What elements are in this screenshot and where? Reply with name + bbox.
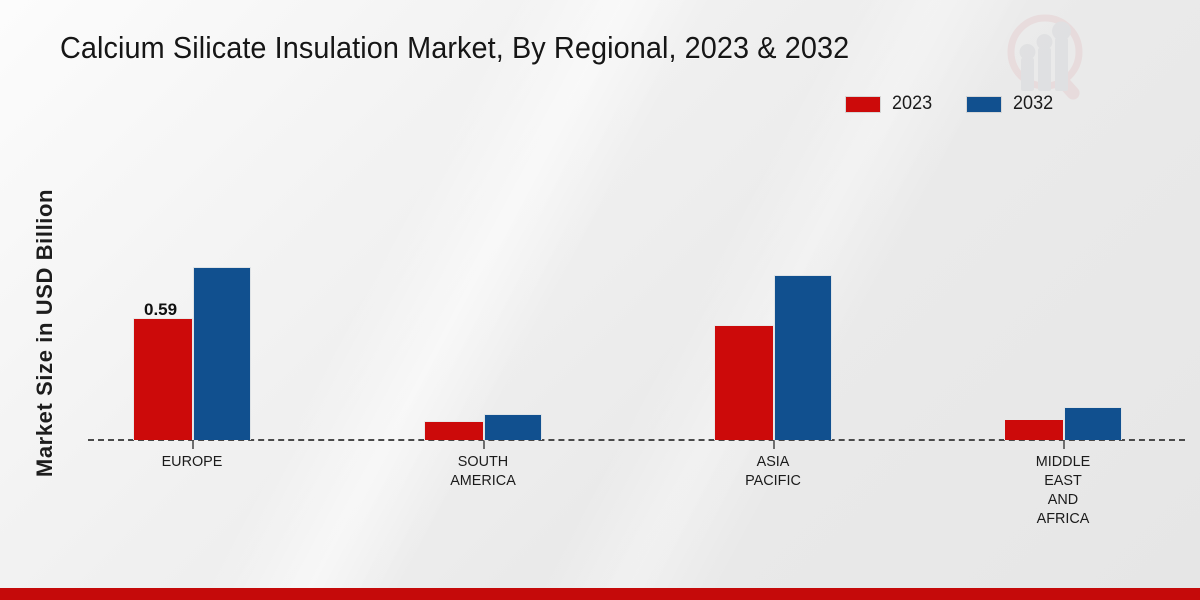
category-label-middle-east-and-africa: MIDDLE EAST AND AFRICA bbox=[981, 452, 1144, 528]
bar-middle-east-and-africa-2023[interactable] bbox=[1004, 419, 1064, 440]
bar-south-america-2032[interactable] bbox=[484, 414, 542, 440]
bar-south-america-2023[interactable] bbox=[424, 421, 484, 440]
plot-area: 0.59 EUROPE SOUTH AMERICA ASIA PACIFIC M… bbox=[0, 0, 1200, 600]
category-line: ASIA bbox=[691, 452, 854, 471]
category-line: EAST bbox=[981, 471, 1144, 490]
category-label-europe: EUROPE bbox=[110, 452, 273, 471]
bar-europe-2032[interactable] bbox=[193, 267, 251, 440]
axis-tick-middle-east-and-africa bbox=[1063, 441, 1065, 449]
axis-tick-south-america bbox=[483, 441, 485, 449]
axis-tick-asia-pacific bbox=[773, 441, 775, 449]
category-line: EUROPE bbox=[110, 452, 273, 471]
category-line: PACIFIC bbox=[691, 471, 854, 490]
bar-asia-pacific-2032[interactable] bbox=[774, 275, 832, 440]
chart-canvas: Calcium Silicate Insulation Market, By R… bbox=[0, 0, 1200, 600]
bar-europe-2023[interactable] bbox=[133, 318, 193, 440]
data-label-europe-2023: 0.59 bbox=[144, 300, 177, 320]
category-line: MIDDLE bbox=[981, 452, 1144, 471]
category-line: AFRICA bbox=[981, 509, 1144, 528]
category-label-south-america: SOUTH AMERICA bbox=[401, 452, 564, 490]
bottom-accent-stripe bbox=[0, 588, 1200, 600]
bar-asia-pacific-2023[interactable] bbox=[714, 325, 774, 440]
axis-tick-europe bbox=[192, 441, 194, 449]
category-label-asia-pacific: ASIA PACIFIC bbox=[691, 452, 854, 490]
category-line: AND bbox=[981, 490, 1144, 509]
category-line: SOUTH bbox=[401, 452, 564, 471]
bar-middle-east-and-africa-2032[interactable] bbox=[1064, 407, 1122, 440]
category-line: AMERICA bbox=[401, 471, 564, 490]
